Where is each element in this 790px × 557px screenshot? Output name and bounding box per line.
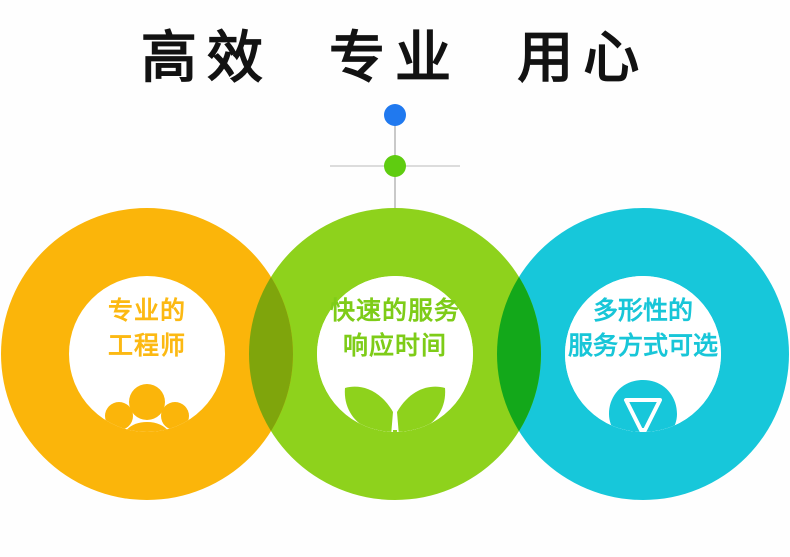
overlap-green-cyan	[497, 208, 789, 500]
overlap-fill-orange-green	[249, 208, 293, 500]
headline-word-2: 专业	[329, 30, 461, 89]
overlap-punch-right	[565, 276, 721, 432]
ring-hole-orange	[69, 276, 225, 432]
headline-word-1: 高效	[141, 30, 273, 89]
overlap-fill-green-cyan	[497, 208, 541, 500]
headline-word-3: 用心	[517, 30, 649, 89]
blue-dot-icon	[384, 104, 406, 126]
overlap-punch-right	[317, 276, 473, 432]
green-dot-icon	[384, 155, 406, 177]
poster-canvas: 高效 专业 用心	[0, 0, 790, 557]
page-title: 高效 专业 用心	[0, 30, 790, 89]
